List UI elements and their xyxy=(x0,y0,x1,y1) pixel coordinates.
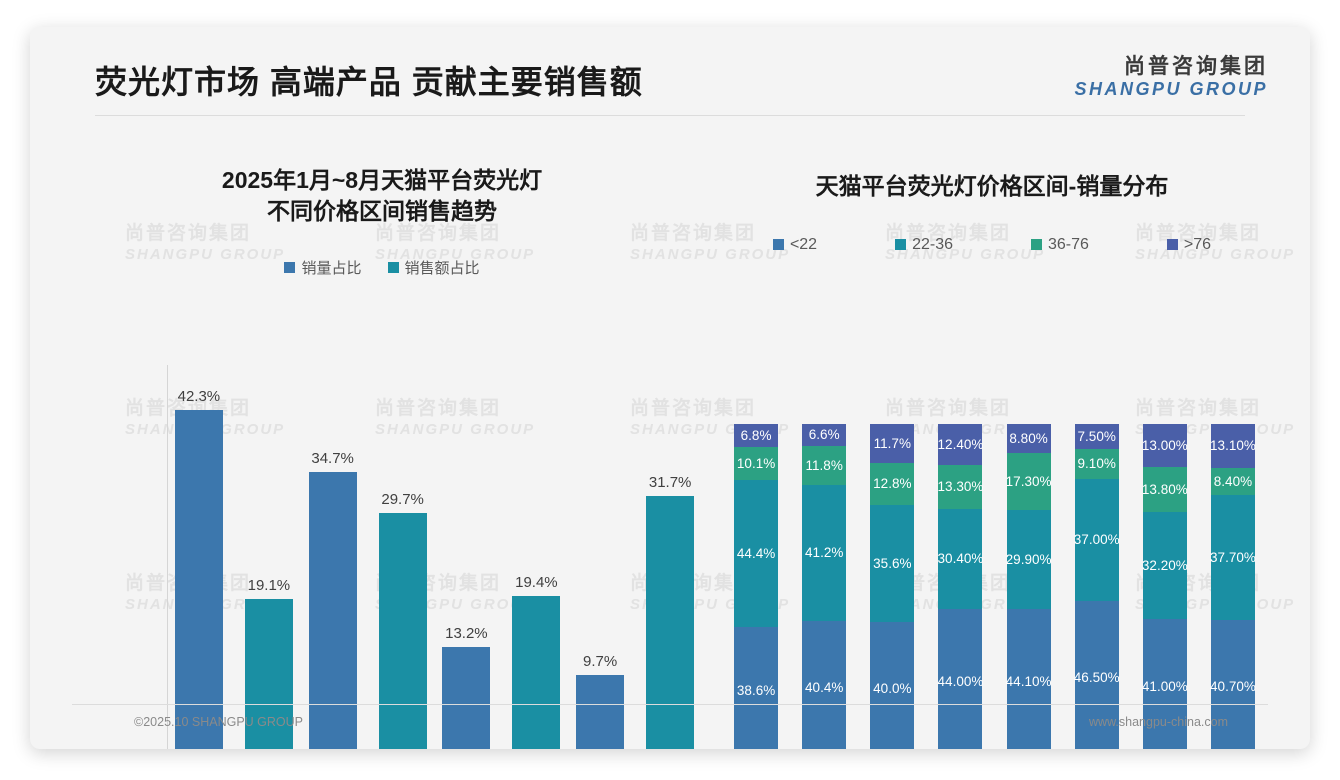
stack-segment-label: 40.0% xyxy=(873,681,911,696)
bar-销量占比-<22[interactable]: 42.3% xyxy=(175,410,223,749)
slide-card: 尚普咨询集团SHANGPU GROUP尚普咨询集团SHANGPU GROUP尚普… xyxy=(30,27,1310,749)
stack-segment-label: 44.00% xyxy=(938,674,984,689)
right-chart-title: 天猫平台荧光灯价格区间-销量分布 xyxy=(702,171,1282,202)
stack-segment->76[interactable]: 11.7% xyxy=(870,424,914,463)
stack-segment-label: 13.10% xyxy=(1210,438,1256,453)
legend-swatch-icon xyxy=(1031,239,1042,250)
legend-label: 36-76 xyxy=(1048,236,1089,254)
stack-segment-label: 9.10% xyxy=(1078,456,1116,471)
bar-销售额占比-22-36[interactable]: 29.7% xyxy=(379,513,427,749)
stack-segment-label: 13.30% xyxy=(938,479,984,494)
legend-label: 22-36 xyxy=(912,236,953,254)
right-chart-panel: 天猫平台荧光灯价格区间-销量分布 <2222-3636-76>76 6.8%10… xyxy=(702,127,1282,707)
stack-segment-label: 6.6% xyxy=(809,427,840,442)
stack-segment-36-76[interactable]: 13.80% xyxy=(1143,467,1187,513)
stack-segment-36-76[interactable]: 11.8% xyxy=(802,446,846,485)
stack-segment-<22[interactable]: 38.6% xyxy=(734,627,778,749)
stack-segment-22-36[interactable]: 35.6% xyxy=(870,505,914,622)
stack-segment->76[interactable]: 6.6% xyxy=(802,424,846,446)
bar-value-label: 29.7% xyxy=(381,491,424,508)
stack-segment-36-76[interactable]: 17.30% xyxy=(1007,453,1051,510)
stacked-bar-M1[interactable]: 6.8%10.1%44.4%38.6%M1 xyxy=(734,424,778,749)
stack-segment-22-36[interactable]: 41.2% xyxy=(802,485,846,621)
page-title: 荧光灯市场 高端产品 贡献主要销售额 xyxy=(95,57,643,103)
stack-segment-36-76[interactable]: 8.40% xyxy=(1211,468,1255,496)
legend-label: 销量占比 xyxy=(301,257,361,278)
stacked-bar-M4[interactable]: 12.40%13.30%30.40%44.00%M4 xyxy=(938,424,982,749)
left-chart-panel: 2025年1月~8月天猫平台荧光灯 不同价格区间销售趋势 销量占比销售额占比 4… xyxy=(72,127,692,707)
bar-value-label: 31.7% xyxy=(649,474,692,491)
legend-item-price-2[interactable]: 22-36 xyxy=(895,236,953,254)
bar-rect xyxy=(646,496,694,749)
stack-segment-label: 12.40% xyxy=(938,437,984,452)
stacked-bar-M6[interactable]: 7.50%9.10%37.00%46.50%M6 xyxy=(1075,424,1119,749)
legend-item-price-1[interactable]: <22 xyxy=(773,236,817,254)
stack-segment-<22[interactable]: 44.00% xyxy=(938,609,982,749)
footer-website: www.shangpu-china.com xyxy=(1089,715,1228,729)
stack-segment-22-36[interactable]: 37.70% xyxy=(1211,495,1255,619)
bar-group: 9.7%31.7%>76(高价位) xyxy=(568,364,702,749)
stacked-bar-M8[interactable]: 13.10%8.40%37.70%40.70%M8 xyxy=(1211,424,1255,749)
stack-segment-<22[interactable]: 40.70% xyxy=(1211,620,1255,749)
bar-value-label: 19.1% xyxy=(248,577,291,594)
stack-segment-22-36[interactable]: 32.20% xyxy=(1143,512,1187,618)
bar-group: 34.7%29.7%22-36(中低价位) xyxy=(301,364,435,749)
stack-segment-label: 12.8% xyxy=(873,476,911,491)
stack-segment-label: 35.6% xyxy=(873,556,911,571)
stack-segment->76[interactable]: 8.80% xyxy=(1007,424,1051,453)
bar-销量占比-36-76[interactable]: 13.2% xyxy=(442,647,490,749)
bar-rect xyxy=(576,675,624,749)
bar-rect xyxy=(512,596,560,749)
header-divider xyxy=(95,115,1245,116)
stack-segment-label: 29.90% xyxy=(1006,552,1052,567)
legend-label: <22 xyxy=(790,236,817,254)
stack-segment-label: 41.00% xyxy=(1142,679,1188,694)
bar-销量占比->76[interactable]: 9.7% xyxy=(576,675,624,749)
legend-swatch-icon xyxy=(388,262,399,273)
stack-segment-label: 13.00% xyxy=(1142,438,1188,453)
stacked-bar-M2[interactable]: 6.6%11.8%41.2%40.4%M2 xyxy=(802,424,846,749)
stack-segment-<22[interactable]: 40.4% xyxy=(802,621,846,749)
stack-segment-36-76[interactable]: 13.30% xyxy=(938,465,982,509)
bar-销售额占比-36-76[interactable]: 19.4% xyxy=(512,596,560,749)
left-chart-title: 2025年1月~8月天猫平台荧光灯 不同价格区间销售趋势 xyxy=(72,165,692,227)
stack-segment->76[interactable]: 12.40% xyxy=(938,424,982,465)
stack-segment-22-36[interactable]: 30.40% xyxy=(938,509,982,609)
stack-segment-label: 13.80% xyxy=(1142,482,1188,497)
slide-header: 荧光灯市场 高端产品 贡献主要销售额 尚普咨询集团 SHANGPU GROUP xyxy=(30,27,1310,115)
stack-segment-<22[interactable]: 44.10% xyxy=(1007,609,1051,749)
legend-swatch-icon xyxy=(1167,239,1178,250)
stack-segment-label: 38.6% xyxy=(737,683,775,698)
legend-item-price-3[interactable]: 36-76 xyxy=(1031,236,1089,254)
left-chart-plot: 42.3%19.1%<22(低价位)34.7%29.7%22-36(中低价位)1… xyxy=(167,365,702,749)
left-chart-title-line2: 不同价格区间销售趋势 xyxy=(72,196,692,227)
bar-value-label: 42.3% xyxy=(178,388,221,405)
legend-swatch-icon xyxy=(773,239,784,250)
stack-segment-label: 10.1% xyxy=(737,456,775,471)
stack-segment-22-36[interactable]: 44.4% xyxy=(734,480,778,627)
stack-segment-label: 46.50% xyxy=(1074,670,1120,685)
bar-rect xyxy=(442,647,490,749)
stack-segment->76[interactable]: 13.10% xyxy=(1211,424,1255,467)
stack-segment-label: 41.2% xyxy=(805,545,843,560)
stack-segment-label: 7.50% xyxy=(1078,429,1116,444)
bar-rect xyxy=(309,472,357,749)
left-chart-legend: 销量占比销售额占比 xyxy=(72,257,692,278)
bar-value-label: 13.2% xyxy=(445,625,488,642)
stack-segment-<22[interactable]: 40.0% xyxy=(870,622,914,749)
bar-rect xyxy=(175,410,223,749)
stack-segment-label: 37.70% xyxy=(1210,550,1256,565)
stack-segment-label: 17.30% xyxy=(1006,474,1052,489)
stack-segment-label: 37.00% xyxy=(1074,532,1120,547)
bar-value-label: 9.7% xyxy=(583,653,617,670)
stack-segment-label: 6.8% xyxy=(741,428,772,443)
logo-english-name: SHANGPU GROUP xyxy=(1074,79,1268,101)
bar-group: 42.3%19.1%<22(低价位) xyxy=(167,364,301,749)
stack-segment->76[interactable]: 6.8% xyxy=(734,424,778,446)
stack-segment-label: 44.10% xyxy=(1006,674,1052,689)
stacked-bar-M5[interactable]: 8.80%17.30%29.90%44.10%M5 xyxy=(1007,424,1051,749)
stack-segment-label: 40.4% xyxy=(805,680,843,695)
legend-label: >76 xyxy=(1184,236,1211,254)
footer-divider xyxy=(72,704,1268,705)
stack-segment-36-76[interactable]: 12.8% xyxy=(870,463,914,505)
bar-value-label: 19.4% xyxy=(515,574,558,591)
brand-logo: 尚普咨询集团 SHANGPU GROUP xyxy=(1074,55,1268,101)
stack-segment-label: 11.8% xyxy=(806,458,843,473)
legend-swatch-icon xyxy=(284,262,295,273)
legend-swatch-icon xyxy=(895,239,906,250)
legend-item-sales-2[interactable]: 销售额占比 xyxy=(388,257,480,278)
stack-segment-36-76[interactable]: 10.1% xyxy=(734,447,778,480)
bar-rect xyxy=(379,513,427,749)
stack-segment-<22[interactable]: 41.00% xyxy=(1143,619,1187,749)
stack-segment-22-36[interactable]: 29.90% xyxy=(1007,510,1051,609)
stacked-bar-M3[interactable]: 11.7%12.8%35.6%40.0%M3 xyxy=(870,424,914,749)
stacked-bar-M7[interactable]: 13.00%13.80%32.20%41.00%M7 xyxy=(1143,424,1187,749)
bar-group: 13.2%19.4%36-76(中高价位) xyxy=(435,364,569,749)
footer-copyright: ©2025.10 SHANGPU GROUP xyxy=(134,715,303,729)
stack-segment-label: 8.40% xyxy=(1214,474,1252,489)
stack-segment-label: 44.4% xyxy=(737,546,775,561)
bar-value-label: 34.7% xyxy=(311,450,354,467)
stack-segment-36-76[interactable]: 9.10% xyxy=(1075,449,1119,479)
right-chart-legend: <2222-3636-76>76 xyxy=(702,236,1282,254)
legend-item-sales-1[interactable]: 销量占比 xyxy=(284,257,361,278)
stack-segment-label: 40.70% xyxy=(1210,679,1256,694)
stack-segment-label: 8.80% xyxy=(1009,431,1047,446)
stack-segment->76[interactable]: 7.50% xyxy=(1075,424,1119,449)
bar-销量占比-22-36[interactable]: 34.7% xyxy=(309,472,357,749)
stack-segment-label: 32.20% xyxy=(1142,558,1188,573)
right-chart-plot: 6.8%10.1%44.4%38.6%M16.6%11.8%41.2%40.4%… xyxy=(722,335,1267,749)
bar-销售额占比->76[interactable]: 31.7% xyxy=(646,496,694,749)
stack-segment->76[interactable]: 13.00% xyxy=(1143,424,1187,467)
stack-segment-label: 30.40% xyxy=(938,551,984,566)
stack-segment-label: 11.7% xyxy=(874,436,911,451)
left-chart-title-line1: 2025年1月~8月天猫平台荧光灯 xyxy=(72,165,692,196)
logo-chinese-name: 尚普咨询集团 xyxy=(1074,55,1268,79)
stack-segment-22-36[interactable]: 37.00% xyxy=(1075,479,1119,601)
legend-item-price-4[interactable]: >76 xyxy=(1167,236,1211,254)
legend-label: 销售额占比 xyxy=(405,257,480,278)
